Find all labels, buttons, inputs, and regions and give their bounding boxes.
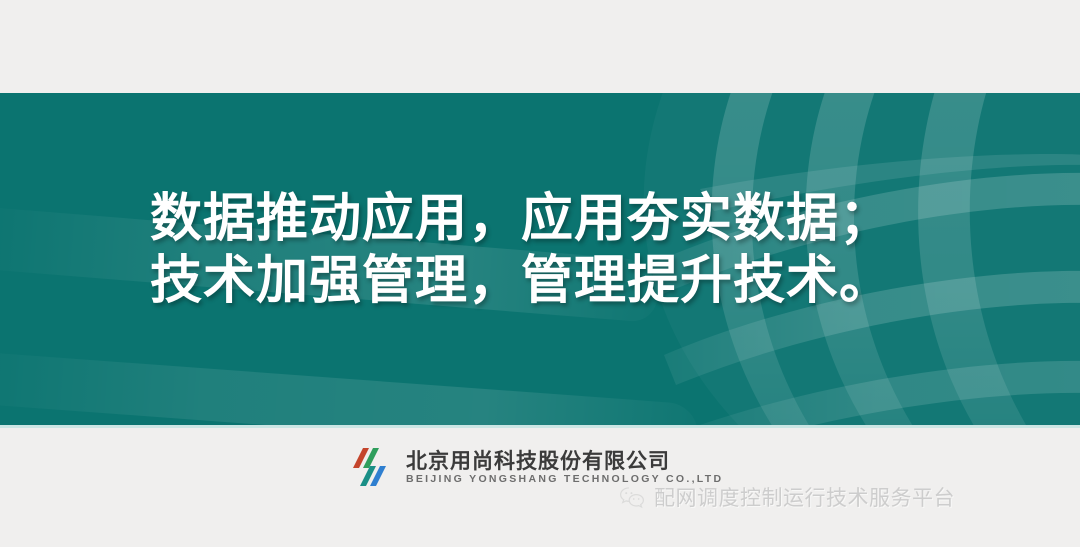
watermark-text: 配网调度控制运行技术服务平台 (654, 485, 955, 511)
company-name-cn: 北京用尚科技股份有限公司 (406, 449, 723, 473)
yongshang-logo-mark-icon (350, 444, 396, 490)
headline-line-2: 技术加强管理，管理提升技术。 (150, 250, 950, 312)
headline-line-1: 数据推动应用，应用夯实数据； (150, 188, 950, 250)
banner-underline (0, 425, 1080, 428)
headline: 数据推动应用，应用夯实数据； 技术加强管理，管理提升技术。 (150, 188, 950, 312)
wechat-watermark: 配网调度控制运行技术服务平台 (618, 484, 955, 512)
logo-text-block: 北京用尚科技股份有限公司 BEIJING YONGSHANG TECHNOLOG… (406, 449, 723, 486)
presentation-slide: 数据推动应用，应用夯实数据； 技术加强管理，管理提升技术。 北京用尚科技股份有限… (0, 0, 1080, 547)
wechat-icon (618, 484, 646, 512)
teal-banner: 数据推动应用，应用夯实数据； 技术加强管理，管理提升技术。 (0, 93, 1080, 425)
